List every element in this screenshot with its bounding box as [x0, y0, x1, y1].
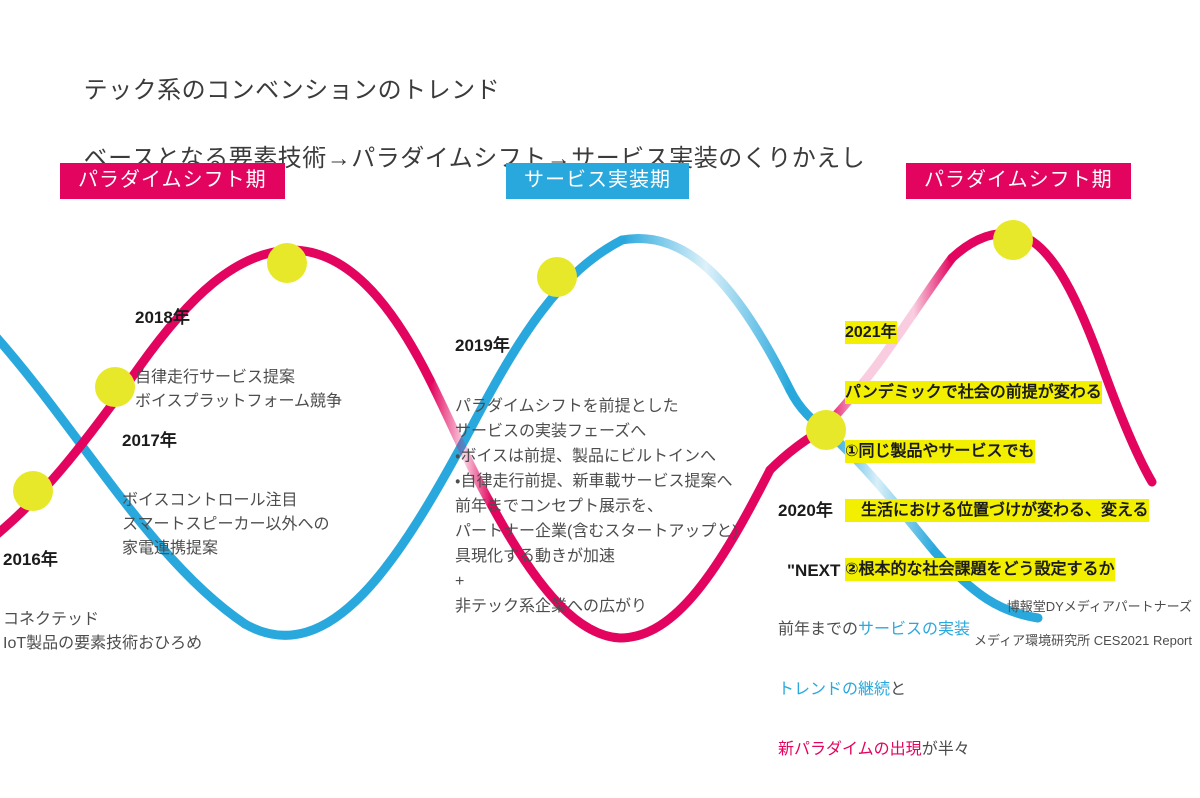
phase-label-paradigm-shift-1: パラダイムシフト期 [60, 163, 285, 199]
annotation-2016: 2016年 コネクテッド IoT製品の要素技術おひろめ [3, 512, 202, 692]
annotation-2019: 2019年 パラダイムシフトを前提とした サービスの実装フェーズへ ・ボイスは前… [455, 298, 738, 655]
phase-label-paradigm-shift-2: パラダイムシフト期 [906, 163, 1131, 199]
annotation-2021-line-3: 生活における位置づけが変わる、変える [845, 499, 1149, 522]
source-credit-line-2: メディア環境研究所 CES2021 Report [974, 633, 1192, 648]
annotation-2021-line-1: パンデミックで社会の前提が変わる [845, 381, 1102, 404]
annotation-2021-line-4: ②根本的な社会課題をどう設定するか [845, 558, 1115, 581]
annotation-2020-line-1: 前年までのサービスの実装 [778, 618, 970, 642]
annotation-2020-line-1-highlight: サービスの実装 [858, 621, 970, 638]
annotation-2019-body: パラダイムシフトを前提とした サービスの実装フェーズへ ・ボイスは前提、製品にビ… [455, 394, 738, 619]
year-marker-2021[interactable] [993, 220, 1033, 260]
annotation-2017-year: 2017年 [122, 429, 330, 452]
annotation-2020-line-2-plain: と [890, 681, 906, 698]
annotation-2020-line-3: 新パラダイムの出現が半々 [778, 738, 970, 762]
annotation-2020-line-2-highlight: トレンドの継続 [778, 681, 890, 698]
annotation-2021-line-2: ①同じ製品やサービスでも [845, 440, 1035, 463]
annotation-2019-year: 2019年 [455, 334, 738, 357]
annotation-2021-year: 2021年 [845, 321, 897, 344]
phase-label-service-implementation: サービス実装期 [506, 163, 689, 199]
year-marker-2019[interactable] [537, 257, 577, 297]
annotation-2020-line-1-plain: 前年までの [778, 621, 858, 638]
annotation-2016-body: コネクテッド IoT製品の要素技術おひろめ [3, 608, 202, 656]
annotation-2018-year: 2018年 [135, 306, 342, 329]
annotation-2020-line-3-highlight: 新パラダイムの出現 [778, 741, 922, 758]
year-marker-2020[interactable] [806, 410, 846, 450]
annotation-2020-line-3-plain: が半々 [922, 741, 970, 758]
annotation-2020-line-2: トレンドの継続と [778, 678, 970, 702]
annotation-2016-year: 2016年 [3, 548, 202, 571]
year-marker-2016[interactable] [13, 471, 53, 511]
source-credit-line-1: 博報堂DYメディアパートナーズ [1007, 599, 1192, 614]
infographic-canvas: テック系のコンベンションのトレンド ベースとなる要素技術→パラダイムシフト→サー… [0, 0, 1200, 672]
page-title-line-1: テック系のコンベンションのトレンド [84, 77, 501, 104]
source-credit: 博報堂DYメディアパートナーズ メディア環境研究所 CES2021 Report [960, 581, 1192, 666]
annotation-2021: 2021年 パンデミックで社会の前提が変わる ①同じ製品やサービスでも 生活にお… [845, 285, 1149, 617]
